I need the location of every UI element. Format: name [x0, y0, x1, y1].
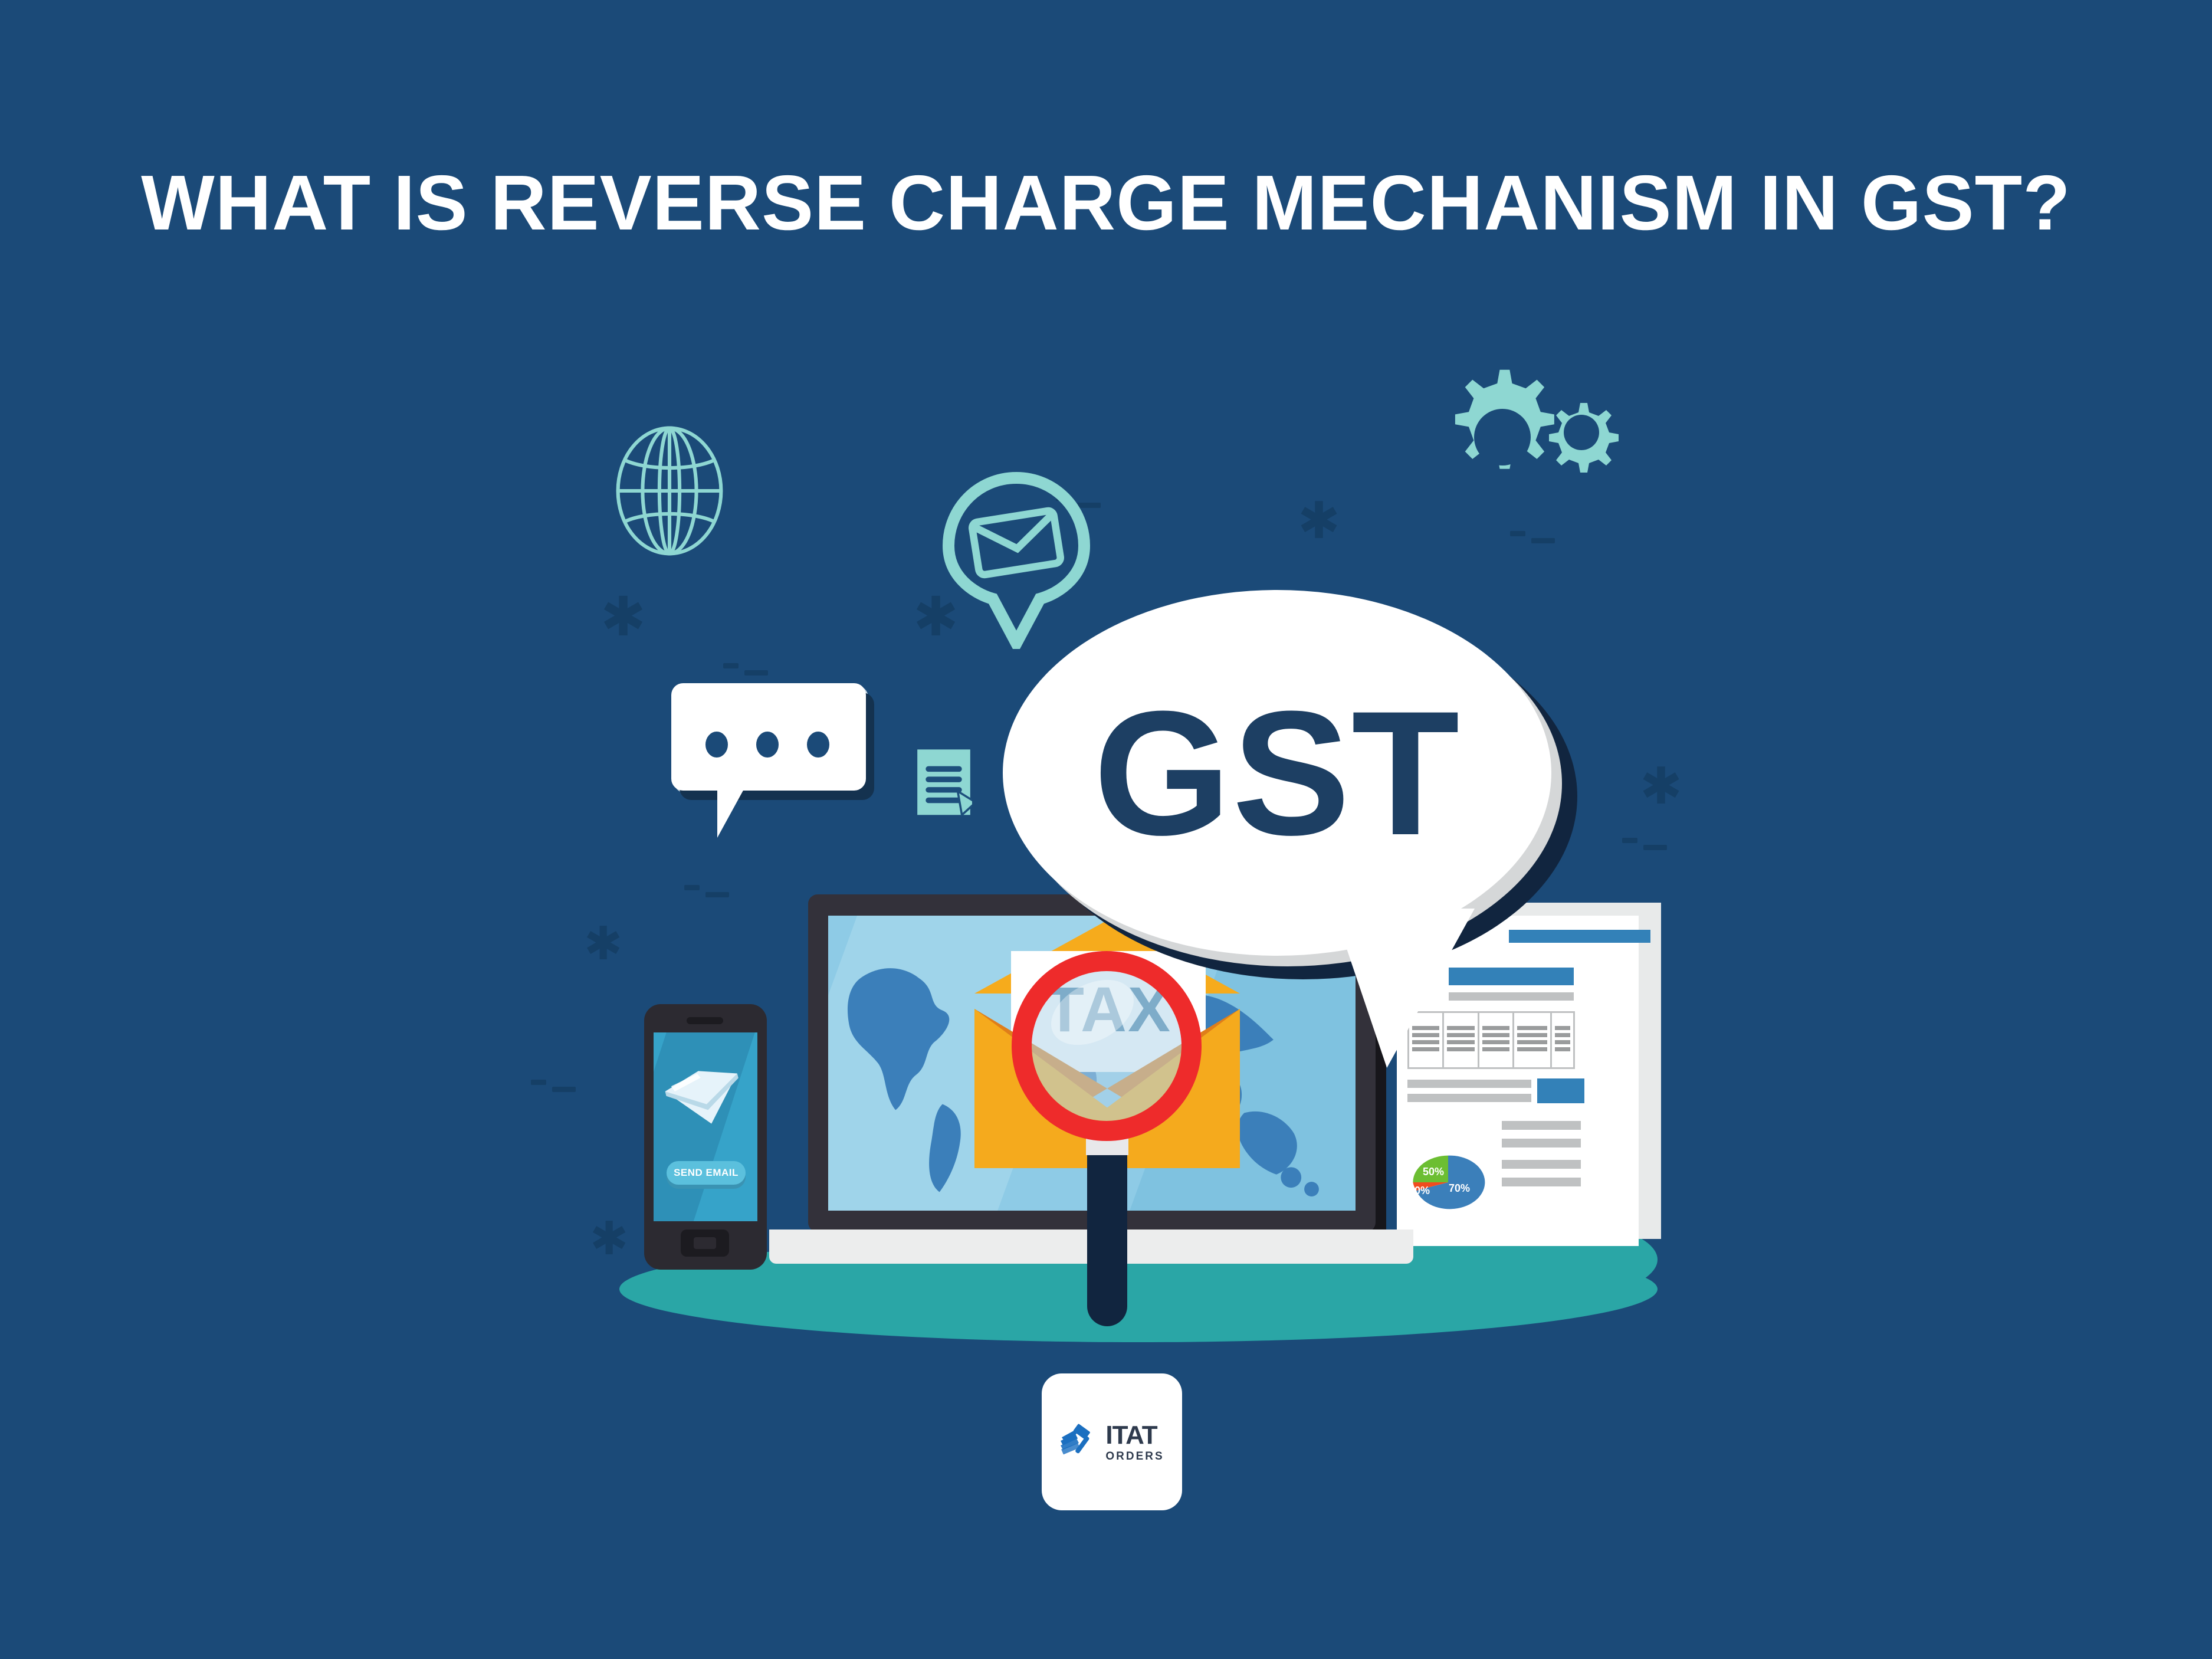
typing-dot: [705, 732, 728, 758]
dash-decoration: [684, 885, 729, 904]
asterisk-decoration: ✱: [600, 590, 646, 644]
phone-screen: SEND EMAIL: [654, 1032, 757, 1221]
brand-tagline: ORDERS: [1105, 1451, 1164, 1462]
typing-dot: [756, 732, 779, 758]
globe-icon: [613, 424, 726, 558]
asterisk-decoration: ✱: [1298, 496, 1340, 546]
dash-decoration: [531, 1080, 576, 1099]
phone-home-button[interactable]: [681, 1230, 729, 1257]
phone-speaker: [687, 1017, 723, 1024]
brand-wordmark: ITAT ORDERS: [1105, 1422, 1164, 1462]
document-table: [1407, 1011, 1575, 1069]
phone-screen-sheen: [654, 1032, 757, 1221]
document-text-line: [1407, 1094, 1531, 1102]
gst-text: GST: [1003, 590, 1551, 956]
brand-name: ITAT: [1105, 1422, 1164, 1448]
page-title: WHAT IS REVERSE CHARGE MECHANISM IN GST?: [0, 158, 2212, 247]
send-email-button[interactable]: SEND EMAIL: [667, 1161, 746, 1185]
pie-label-blue: 70%: [1449, 1182, 1470, 1195]
table-column: [1552, 1013, 1573, 1067]
document-text-line: [1407, 1080, 1531, 1088]
dash-decoration: [1622, 838, 1667, 857]
table-column: [1444, 1013, 1477, 1067]
chat-bubble-body: [671, 683, 866, 791]
typing-dot: [807, 732, 829, 758]
brand-logo[interactable]: ITAT ORDERS: [1042, 1373, 1182, 1510]
gavel-book-icon: [1059, 1424, 1100, 1460]
smartphone: SEND EMAIL: [644, 1004, 767, 1270]
table-column: [1479, 1013, 1512, 1067]
asterisk-decoration: ✱: [1640, 761, 1682, 812]
pie-label-red: 10%: [1409, 1185, 1430, 1197]
document-text-line: [1502, 1160, 1581, 1169]
dash-decoration: [1510, 531, 1555, 550]
document-text-line: [1502, 1178, 1581, 1186]
document-accent-block: [1537, 1078, 1584, 1103]
poster-canvas: WHAT IS REVERSE CHARGE MECHANISM IN GST?…: [0, 0, 2212, 1659]
document-note-icon: [915, 748, 972, 818]
asterisk-decoration: ✱: [590, 1215, 628, 1261]
gears-icon: [1413, 351, 1649, 528]
table-column: [1409, 1013, 1442, 1067]
table-column: [1514, 1013, 1550, 1067]
chat-bubble-icon: [671, 683, 872, 825]
pie-label-green: 50%: [1423, 1166, 1444, 1178]
dash-decoration: [723, 663, 768, 683]
pie-chart: 50% 10% 70%: [1406, 1150, 1490, 1214]
gst-speech-bubble: GST: [1003, 590, 1587, 1003]
document-text-line: [1502, 1121, 1581, 1130]
asterisk-decoration: ✱: [584, 920, 622, 966]
document-text-line: [1502, 1139, 1581, 1147]
magnifier-handle: [1087, 1149, 1127, 1326]
magnifier-icon: [1012, 951, 1206, 1329]
